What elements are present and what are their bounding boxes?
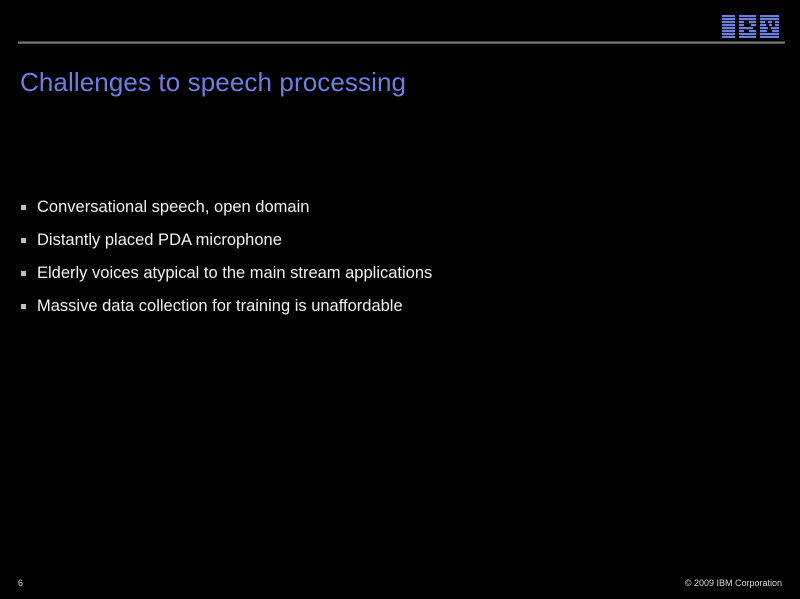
list-item-label: Distantly placed PDA microphone [37,231,282,249]
page-title: Challenges to speech processing [20,66,760,98]
ibm-logo [722,15,779,38]
list-item: Elderly voices atypical to the main stre… [20,262,770,285]
square-bullet-icon [21,205,26,210]
presentation-slide: Challenges to speech processing Conversa… [0,0,800,599]
list-item-label: Massive data collection for training is … [37,297,403,315]
list-item: Distantly placed PDA microphone [20,229,770,252]
list-item-label: Elderly voices atypical to the main stre… [37,264,432,282]
bullet-list: Conversational speech, open domain Dista… [20,196,770,328]
header-divider [18,41,785,44]
page-number: 6 [18,578,23,589]
copyright-notice: © 2009 IBM Corporation [685,578,782,589]
list-item: Massive data collection for training is … [20,295,770,318]
list-item: Conversational speech, open domain [20,196,770,219]
square-bullet-icon [21,238,26,243]
square-bullet-icon [21,304,26,309]
square-bullet-icon [21,271,26,276]
list-item-label: Conversational speech, open domain [37,198,309,216]
